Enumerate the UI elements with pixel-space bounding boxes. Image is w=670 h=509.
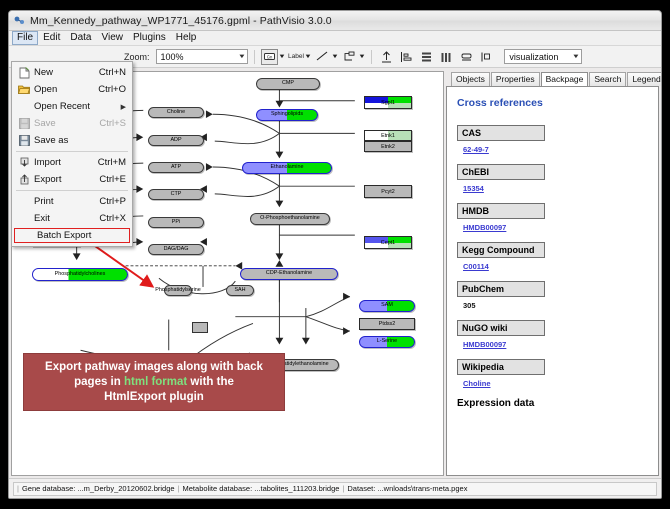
menu-item-save[interactable]: Save Ctrl+S: [12, 115, 132, 132]
callout-line-2: pages in html format with the: [74, 375, 234, 390]
align-top-icon[interactable]: [378, 49, 395, 65]
menu-item-print[interactable]: Print Ctrl+P: [12, 193, 132, 210]
label-button[interactable]: Label: [287, 49, 304, 65]
visualization-value: visualization: [509, 52, 558, 62]
node-ethanolamine-top[interactable]: Sphingolipids: [256, 109, 318, 121]
zoom-select[interactable]: 100% ▼: [156, 49, 248, 64]
backpage-content: Cross references CAS 62-49-7 ChEBI 15354…: [446, 86, 659, 476]
status-text: | Gene database: ...m_Derby_20120602.bri…: [13, 482, 657, 496]
node-atp[interactable]: ADP: [148, 135, 204, 146]
gene-etnk2[interactable]: Etnk2: [364, 141, 412, 152]
xref-db-nugo: NuGO wiki: [457, 320, 545, 336]
menu-item-import[interactable]: Import Ctrl+M: [12, 154, 132, 171]
new-document-icon: [14, 67, 34, 79]
menu-item-label: Save as: [34, 135, 126, 146]
menu-data[interactable]: Data: [65, 31, 96, 45]
menu-view[interactable]: View: [96, 31, 128, 45]
toolbar-separator: [254, 50, 255, 64]
line-dropdown-icon[interactable]: ▼: [332, 54, 340, 60]
status-metabolite-database: Metabolite database: ...tabolites_111203…: [180, 484, 343, 493]
window-title: Mm_Kennedy_pathway_WP1771_45176.gpml - P…: [30, 15, 332, 27]
node-l-serine[interactable]: SAM: [359, 300, 415, 312]
gene-sgpl1[interactable]: Sgpl1: [364, 96, 412, 109]
tab-backpage[interactable]: Backpage: [541, 72, 589, 87]
visualization-select[interactable]: visualization ▼: [504, 49, 582, 64]
node-phosphatidylethanolamine[interactable]: CDP-Ethanolamine: [240, 268, 338, 280]
datanode-dropdown-icon[interactable]: ▼: [278, 54, 286, 60]
export-icon: [14, 174, 34, 185]
node-phosphatidylcholines[interactable]: Phosphatidylcholines: [32, 268, 128, 281]
menu-item-label: Exit: [34, 213, 99, 224]
gene-label: Cept1: [365, 237, 411, 248]
application-window: Mm_Kennedy_pathway_WP1771_45176.gpml - P…: [8, 10, 662, 499]
gene-cept1[interactable]: Cept1: [364, 236, 412, 249]
chevron-down-icon: ▼: [237, 54, 245, 60]
node-adp[interactable]: Choline: [148, 107, 204, 118]
zoom-label: Zoom:: [124, 52, 150, 62]
line-icon[interactable]: [314, 49, 331, 65]
menu-item-save-as[interactable]: Save as: [12, 132, 132, 149]
menu-item-label: Open: [34, 84, 98, 95]
gene-ptdss2[interactable]: Ptdss2: [359, 318, 415, 330]
xref-db-hmdb: HMDB: [457, 203, 545, 219]
callout-line-1: Export pathway images along with back: [45, 360, 263, 375]
xref-value-nugo[interactable]: HMDB00097: [463, 340, 646, 349]
gene-label: Etnk1: [365, 131, 411, 140]
xref-value-kegg[interactable]: C00114: [463, 262, 646, 271]
file-menu-dropdown: New Ctrl+N Open Ctrl+O Open Recent ▶: [11, 61, 133, 247]
import-icon: [14, 157, 34, 168]
pathvisio-icon: [13, 14, 26, 27]
status-gene-database: Gene database: ...m_Derby_20120602.bridg…: [19, 484, 178, 493]
tab-search[interactable]: Search: [589, 72, 626, 86]
group-icon[interactable]: [458, 49, 475, 65]
menu-item-shortcut: Ctrl+N: [99, 67, 130, 78]
menu-item-shortcut: Ctrl+M: [98, 157, 130, 168]
anchor-block: [192, 322, 208, 333]
node-cdp-ethanolamine[interactable]: O-Phosphoethanolamine: [250, 213, 330, 225]
node-cmp[interactable]: DAG/DAG: [148, 244, 204, 255]
tab-legend[interactable]: Legend: [627, 72, 662, 86]
tab-properties[interactable]: Properties: [491, 72, 540, 86]
submenu-arrow-icon: ▶: [121, 103, 130, 111]
node-sphingolipids[interactable]: CMP: [256, 78, 320, 90]
gene-label: Sgpl1: [365, 97, 411, 108]
menu-item-open-recent[interactable]: Open Recent ▶: [12, 98, 132, 115]
menu-item-shortcut: Ctrl+E: [99, 174, 130, 185]
node-sam[interactable]: SAH: [226, 285, 254, 296]
side-panel: Objects Properties Backpage Search Legen…: [446, 71, 659, 476]
chevron-down-icon: ▼: [572, 54, 580, 60]
callout-line-3: HtmlExport plugin: [104, 390, 204, 405]
svg-text:Gn: Gn: [266, 54, 272, 59]
xref-db-pubchem: PubChem: [457, 281, 545, 297]
gene-pcyt2[interactable]: Pcyt2: [364, 185, 412, 198]
xref-db-chebi: ChEBI: [457, 164, 545, 180]
gene-label: Etnk2: [365, 142, 411, 151]
distribute-horizontal-icon[interactable]: [438, 49, 455, 65]
annotation-callout: Export pathway images along with back pa…: [23, 353, 285, 411]
open-folder-icon: [14, 84, 34, 95]
menu-item-shortcut: Ctrl+O: [98, 84, 130, 95]
menu-item-batch-export[interactable]: Batch Export: [14, 228, 130, 243]
menu-plugins[interactable]: Plugins: [128, 31, 171, 45]
distribute-vertical-icon[interactable]: [418, 49, 435, 65]
interaction-icon[interactable]: [341, 49, 358, 65]
menu-item-new[interactable]: New Ctrl+N: [12, 64, 132, 81]
menu-item-label: Save: [34, 118, 99, 129]
gene-label: Ptdss2: [360, 319, 414, 329]
node-dag[interactable]: PPi: [148, 217, 204, 228]
menu-item-shortcut: Ctrl+X: [99, 213, 130, 224]
expression-data-heading: Expression data: [457, 398, 646, 409]
menu-item-label: Open Recent: [34, 101, 121, 112]
menu-item-exit[interactable]: Exit Ctrl+X: [12, 210, 132, 227]
xref-db-kegg: Kegg Compound: [457, 242, 545, 258]
datanode-icon[interactable]: Gn: [261, 49, 278, 65]
cross-references-heading: Cross references: [457, 97, 646, 109]
gene-etnk1[interactable]: Etnk1: [364, 130, 412, 141]
xref-db-cas: CAS: [457, 125, 545, 141]
menu-bar: File Edit Data View Plugins Help: [9, 31, 661, 46]
node-ppi[interactable]: CTP: [148, 189, 204, 200]
menu-item-shortcut: Ctrl+P: [99, 196, 130, 207]
tab-objects[interactable]: Objects: [451, 72, 490, 86]
tab-strip: Objects Properties Backpage Search Legen…: [446, 71, 659, 86]
save-disk-icon: [14, 118, 34, 129]
node-ctp[interactable]: ATP: [148, 162, 204, 173]
xref-value-wikipedia[interactable]: Choline: [463, 379, 646, 388]
status-bar: | Gene database: ...m_Derby_20120602.bri…: [9, 478, 661, 498]
toolbar-separator-2: [371, 50, 372, 64]
menu-separator-2: [16, 190, 128, 191]
label-dropdown-icon[interactable]: ▼: [305, 54, 313, 60]
menu-file[interactable]: File: [12, 31, 38, 45]
menu-help[interactable]: Help: [171, 31, 202, 45]
menu-item-export[interactable]: Export Ctrl+E: [12, 171, 132, 188]
menu-item-shortcut: Ctrl+S: [99, 118, 130, 129]
align-left-icon[interactable]: [398, 49, 415, 65]
zoom-value: 100%: [161, 52, 184, 62]
xref-value-cas[interactable]: 62-49-7: [463, 145, 646, 154]
menu-item-label: Batch Export: [37, 230, 127, 241]
menu-edit[interactable]: Edit: [38, 31, 65, 45]
xref-db-wikipedia: Wikipedia: [457, 359, 545, 375]
save-as-disk-icon: [14, 135, 34, 146]
node-o-phosphoethanolamine[interactable]: Ethanolamine: [242, 162, 332, 174]
stack-icon[interactable]: [478, 49, 495, 65]
xref-value-pubchem: 305: [463, 301, 646, 310]
status-dataset: Dataset: ...wnloads\trans-meta.pgex: [344, 484, 470, 493]
node-sah[interactable]: Phosphatidylserine: [164, 285, 192, 296]
title-bar: Mm_Kennedy_pathway_WP1771_45176.gpml - P…: [9, 11, 661, 31]
menu-item-open[interactable]: Open Ctrl+O: [12, 81, 132, 98]
menu-item-label: New: [34, 67, 99, 78]
menu-item-label: Print: [34, 196, 99, 207]
gene-label: Pcyt2: [365, 186, 411, 197]
node-ethanolamine-right[interactable]: L-Serine: [359, 336, 415, 348]
xref-value-hmdb[interactable]: HMDB00097: [463, 223, 646, 232]
menu-item-label: Import: [34, 157, 98, 168]
xref-value-chebi[interactable]: 15354: [463, 184, 646, 193]
interaction-dropdown-icon[interactable]: ▼: [358, 54, 366, 60]
menu-separator: [16, 151, 128, 152]
menu-item-label: Export: [34, 174, 99, 185]
